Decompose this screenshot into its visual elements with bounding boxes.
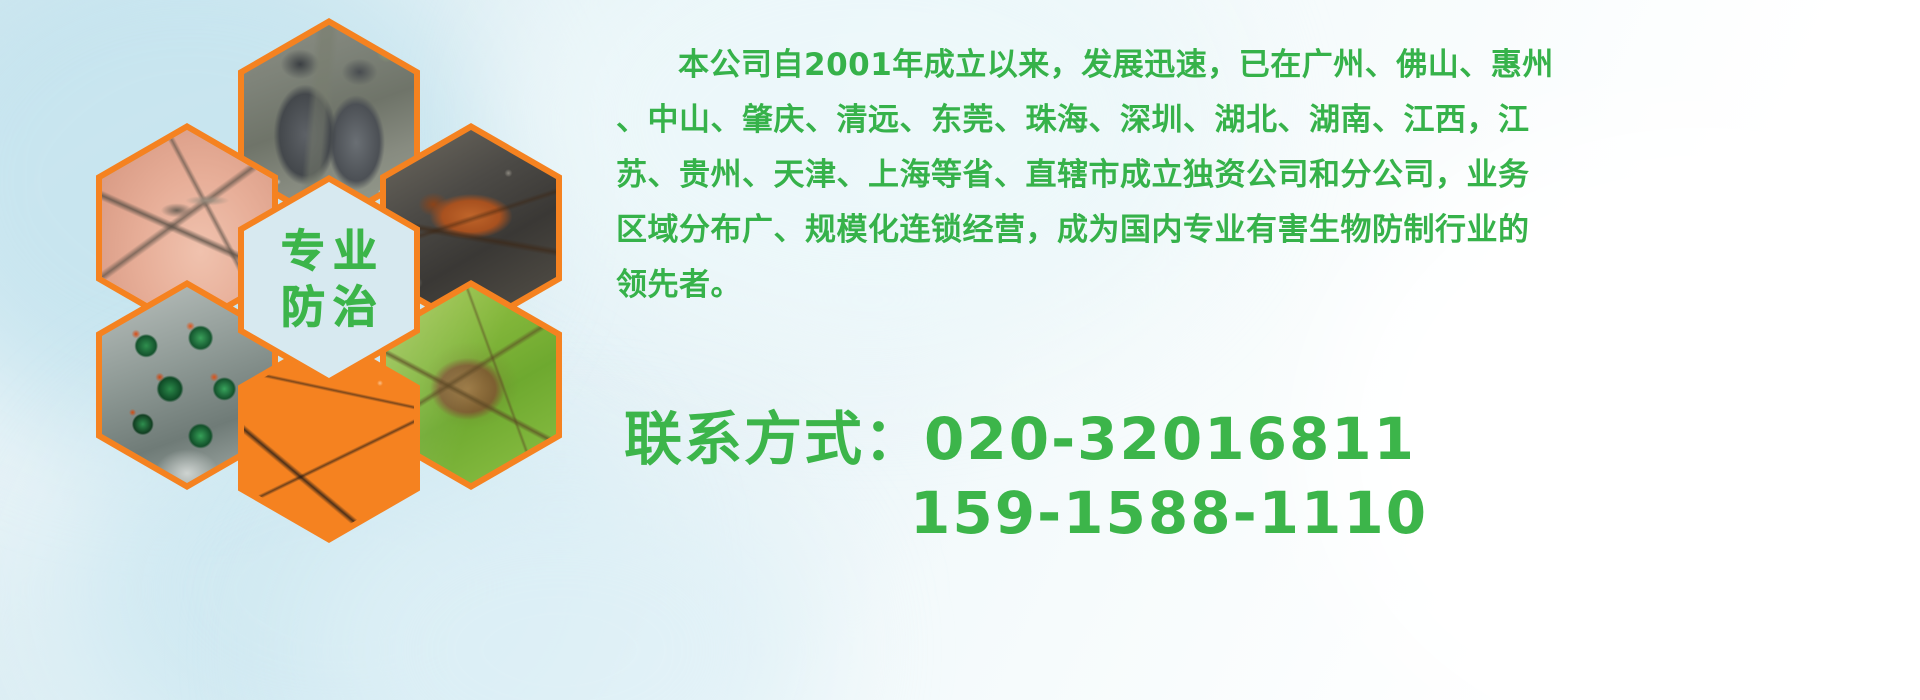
hexagon-photo-collage: 专业 防治 bbox=[96, 18, 576, 558]
slogan-line-2: 防治 bbox=[273, 286, 385, 330]
contact-label: 联系方式： bbox=[624, 405, 924, 473]
description-line: 本公司自2001年成立以来，发展迅速，已在广州、佛山、惠州 bbox=[616, 38, 1884, 93]
promo-banner: 专业 防治 本公司自2001年成立以来，发展迅速，已在广州、佛山、惠州 、中山、… bbox=[0, 0, 1920, 700]
description-line: 领先者。 bbox=[616, 258, 1884, 313]
contact-block: 联系方式：020-32016811 159-1588-1110 bbox=[624, 402, 1724, 550]
contact-primary-line: 联系方式：020-32016811 bbox=[624, 402, 1724, 476]
phone-primary[interactable]: 020-32016811 bbox=[924, 405, 1416, 473]
phone-secondary[interactable]: 159-1588-1110 bbox=[910, 479, 1428, 547]
description-line: 区域分布广、规模化连锁经营，成为国内专业有害生物防制行业的 bbox=[616, 203, 1884, 258]
company-description: 本公司自2001年成立以来，发展迅速，已在广州、佛山、惠州 、中山、肇庆、清远、… bbox=[616, 38, 1884, 313]
description-line: 苏、贵州、天津、上海等省、直辖市成立独资公司和分公司，业务 bbox=[616, 148, 1884, 203]
description-line: 、中山、肇庆、清远、东莞、珠海、深圳、湖北、湖南、江西，江 bbox=[616, 93, 1884, 148]
slogan-line-1: 专业 bbox=[273, 230, 385, 274]
contact-secondary-line: 159-1588-1110 bbox=[624, 476, 1724, 550]
slogan-block: 专业 防治 bbox=[244, 182, 414, 378]
